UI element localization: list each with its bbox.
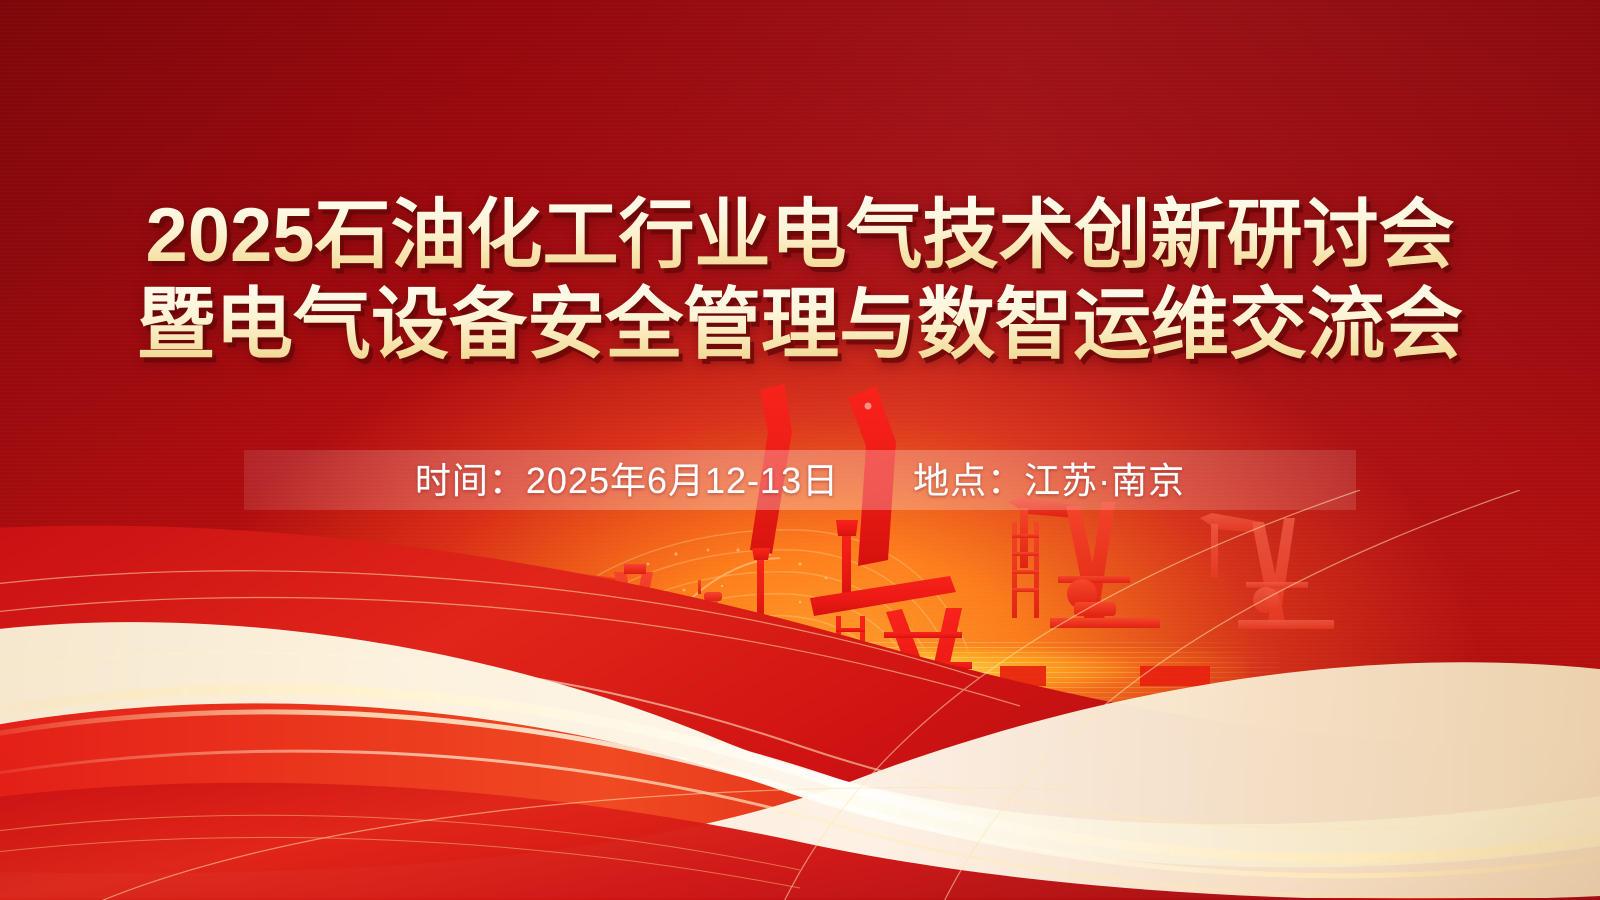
event-info-band: 时间：2025年6月12-13日 地点：江苏·南京 [244,450,1356,510]
conference-poster: 2025石油化工行业电气技术创新研讨会 暨电气设备安全管理与数智运维交流会 时间… [0,0,1600,900]
title-line-2: 暨电气设备安全管理与数智运维交流会 [0,280,1600,368]
poster-title: 2025石油化工行业电气技术创新研讨会 暨电气设备安全管理与数智运维交流会 [0,192,1600,368]
title-line-1: 2025石油化工行业电气技术创新研讨会 [0,192,1600,280]
event-location: 地点：江苏·南京 [913,461,1185,501]
wave-ribbons-icon [0,490,1600,900]
event-time: 时间：2025年6月12-13日 [415,461,839,501]
